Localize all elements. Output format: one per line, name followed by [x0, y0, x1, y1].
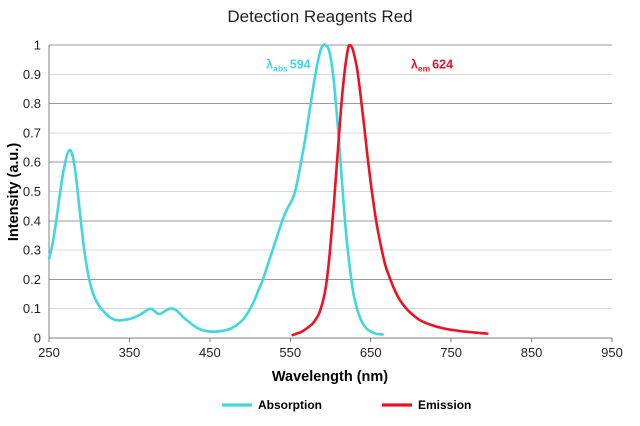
legend-label: Emission [418, 398, 471, 412]
em-peak-label: λem624 [411, 57, 453, 73]
x-tick-label: 250 [38, 345, 60, 360]
y-tick-label: 0.7 [23, 125, 41, 140]
y-axis-title: Intensity (a.u.) [6, 143, 22, 241]
y-tick-label: 0.8 [23, 96, 41, 111]
y-tick-label: 1 [34, 38, 41, 53]
chart-container: Detection Reagents Red 00.10.20.30.40.50… [0, 0, 640, 426]
x-tick-label: 350 [119, 345, 141, 360]
spectra-chart: Detection Reagents Red 00.10.20.30.40.50… [0, 0, 640, 426]
y-tick-label: 0.3 [23, 243, 41, 258]
x-tick-label: 750 [440, 345, 462, 360]
y-tick-label: 0.1 [23, 301, 41, 316]
chart-background [0, 0, 640, 426]
x-tick-label: 550 [279, 345, 301, 360]
legend-label: Absorption [258, 398, 322, 412]
y-tick-label: 0.5 [23, 184, 41, 199]
y-tick-label: 0.2 [23, 272, 41, 287]
y-tick-label: 0 [34, 331, 41, 346]
x-axis-title: Wavelength (nm) [272, 369, 388, 385]
em-peak-label-text: λem624 [411, 57, 453, 73]
x-tick-label: 450 [199, 345, 221, 360]
y-tick-label: 0.6 [23, 155, 41, 170]
x-tick-label: 850 [521, 345, 543, 360]
y-tick-label: 0.9 [23, 67, 41, 82]
x-tick-label: 650 [360, 345, 382, 360]
y-tick-label: 0.4 [23, 213, 41, 228]
x-tick-label: 950 [601, 345, 623, 360]
page-title: Detection Reagents Red [227, 7, 412, 26]
